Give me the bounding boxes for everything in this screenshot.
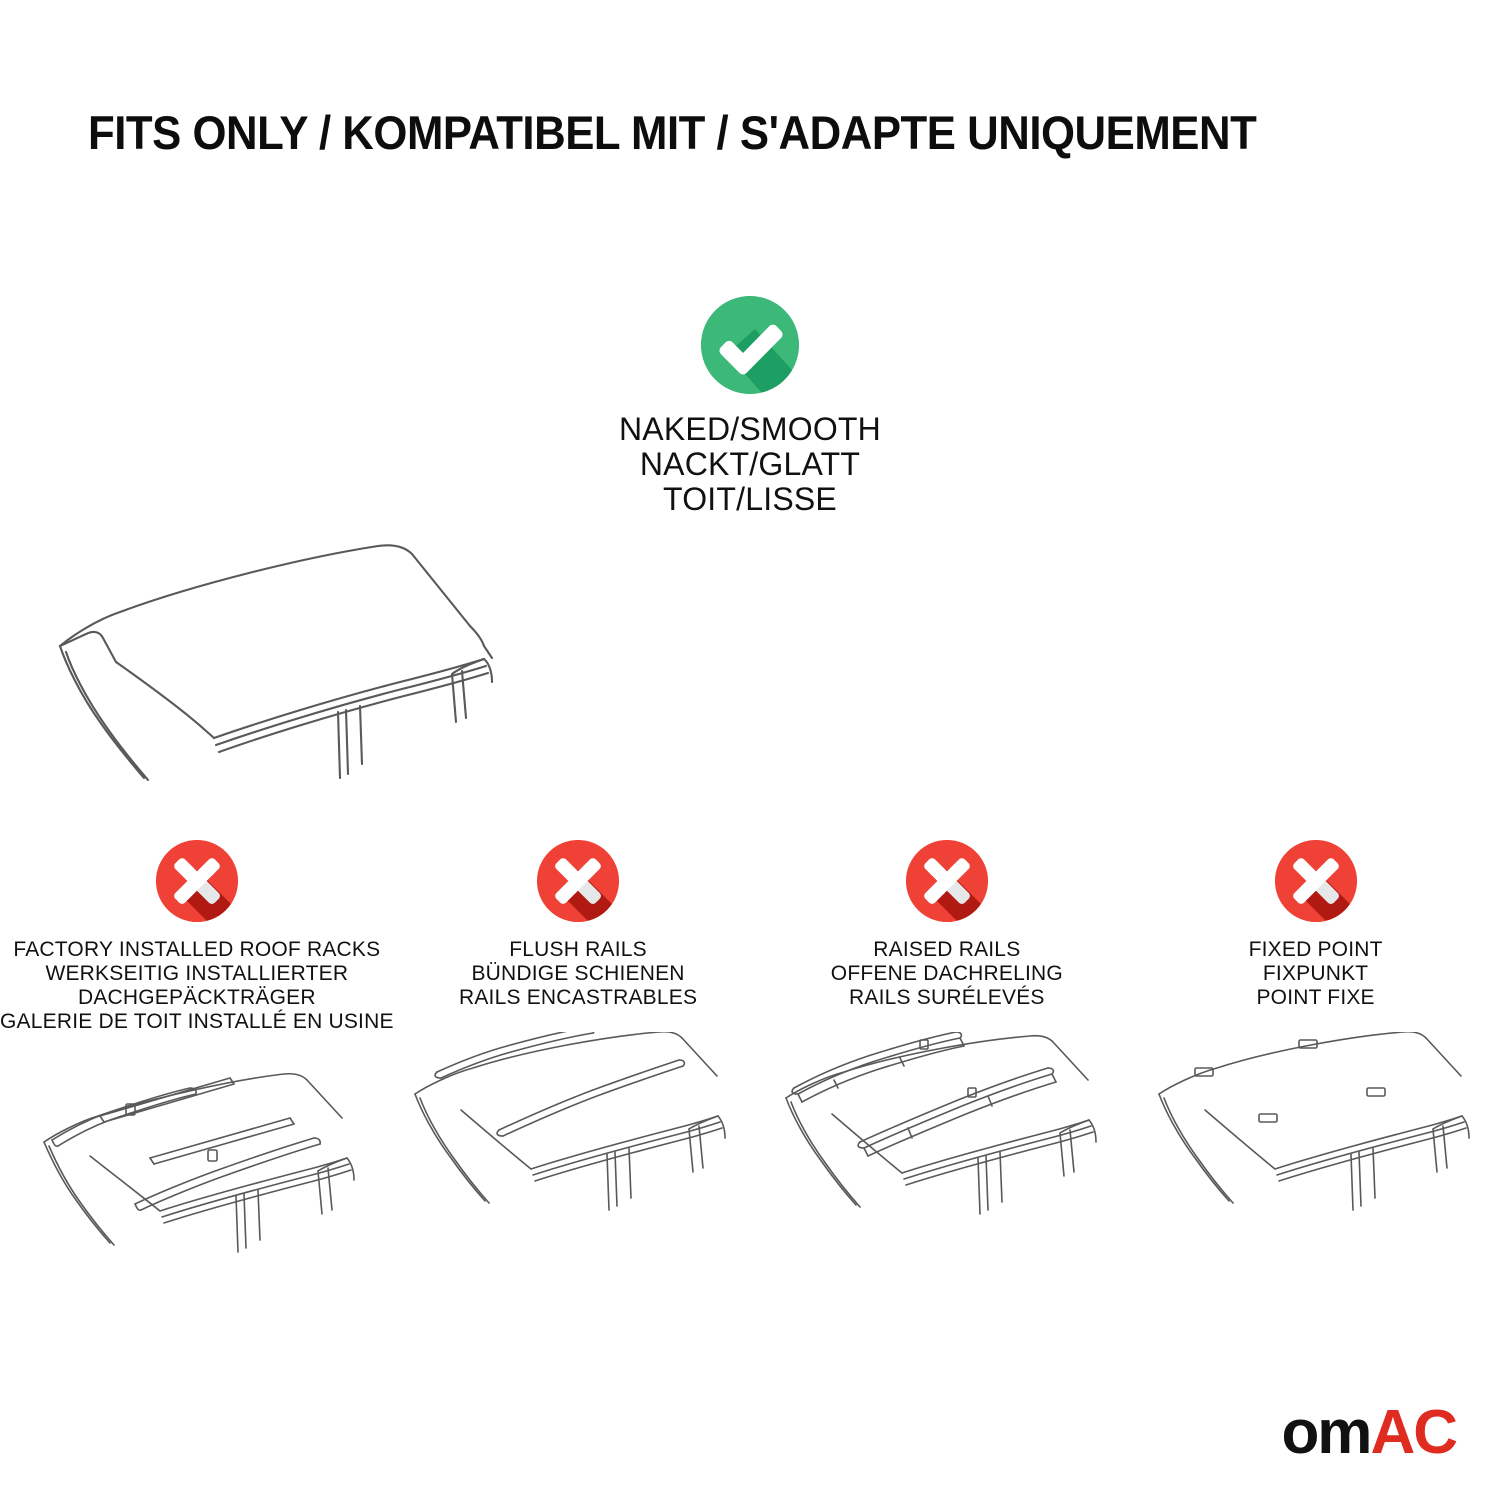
cross-circle-icon <box>906 840 988 922</box>
compatible-caption-de: NACKT/GLATT <box>0 447 1500 482</box>
fitment-infographic: FITS ONLY / KOMPATIBEL MIT / S'ADAPTE UN… <box>0 0 1500 1500</box>
caption-en: FACTORY INSTALLED ROOF RACKS <box>0 938 394 962</box>
incompatible-item-fixed-point: FIXED POINT FIXPUNKT POINT FIXE <box>1131 840 1500 1262</box>
logo-text-red: AC <box>1370 1402 1456 1464</box>
car-roof-flush-rails-illustration <box>394 1032 763 1262</box>
caption-de-2: DACHGEPÄCKTRÄGER <box>0 986 394 1010</box>
incompatible-item-raised-rails: RAISED RAILS OFFENE DACHRELING RAILS SUR… <box>762 840 1131 1262</box>
incompatible-item-factory-racks: FACTORY INSTALLED ROOF RACKS WERKSEITIG … <box>0 840 394 1286</box>
caption-fr: RAILS ENCASTRABLES <box>394 986 763 1010</box>
caption-raised-rails: RAISED RAILS OFFENE DACHRELING RAILS SUR… <box>762 938 1131 1010</box>
caption-de-1: BÜNDIGE SCHIENEN <box>394 962 763 986</box>
caption-flush-rails: FLUSH RAILS BÜNDIGE SCHIENEN RAILS ENCAS… <box>394 938 763 1010</box>
car-roof-naked-smooth-illustration <box>0 516 1500 816</box>
caption-fr: RAILS SURÉLEVÉS <box>762 986 1131 1010</box>
check-circle-icon <box>701 296 799 394</box>
caption-de-1: FIXPUNKT <box>1131 962 1500 986</box>
caption-fixed-point: FIXED POINT FIXPUNKT POINT FIXE <box>1131 938 1500 1010</box>
caption-factory-racks: FACTORY INSTALLED ROOF RACKS WERKSEITIG … <box>0 938 394 1034</box>
logo-text-black: om <box>1281 1402 1370 1464</box>
car-roof-factory-racks-illustration <box>0 1056 394 1286</box>
caption-fr: POINT FIXE <box>1131 986 1500 1010</box>
cross-circle-icon <box>156 840 238 922</box>
car-roof-raised-rails-illustration <box>762 1032 1131 1262</box>
compatible-caption: NAKED/SMOOTH NACKT/GLATT TOIT/LISSE <box>0 412 1500 517</box>
compatible-caption-fr: TOIT/LISSE <box>0 482 1500 517</box>
page-title: FITS ONLY / KOMPATIBEL MIT / S'ADAPTE UN… <box>88 108 1256 157</box>
cross-circle-icon <box>1275 840 1357 922</box>
cross-circle-icon <box>537 840 619 922</box>
omac-logo: omAC <box>1281 1402 1456 1464</box>
caption-en: FLUSH RAILS <box>394 938 763 962</box>
caption-fr: GALERIE DE TOIT INSTALLÉ EN USINE <box>0 1010 394 1034</box>
car-roof-fixed-point-illustration <box>1131 1032 1500 1262</box>
incompatible-item-flush-rails: FLUSH RAILS BÜNDIGE SCHIENEN RAILS ENCAS… <box>394 840 763 1262</box>
compatible-block: NAKED/SMOOTH NACKT/GLATT TOIT/LISSE <box>0 296 1500 517</box>
incompatible-row: FACTORY INSTALLED ROOF RACKS WERKSEITIG … <box>0 840 1500 1286</box>
compatible-caption-en: NAKED/SMOOTH <box>0 412 1500 447</box>
caption-de-1: OFFENE DACHRELING <box>762 962 1131 986</box>
caption-en: RAISED RAILS <box>762 938 1131 962</box>
caption-de-1: WERKSEITIG INSTALLIERTER <box>0 962 394 986</box>
caption-en: FIXED POINT <box>1131 938 1500 962</box>
